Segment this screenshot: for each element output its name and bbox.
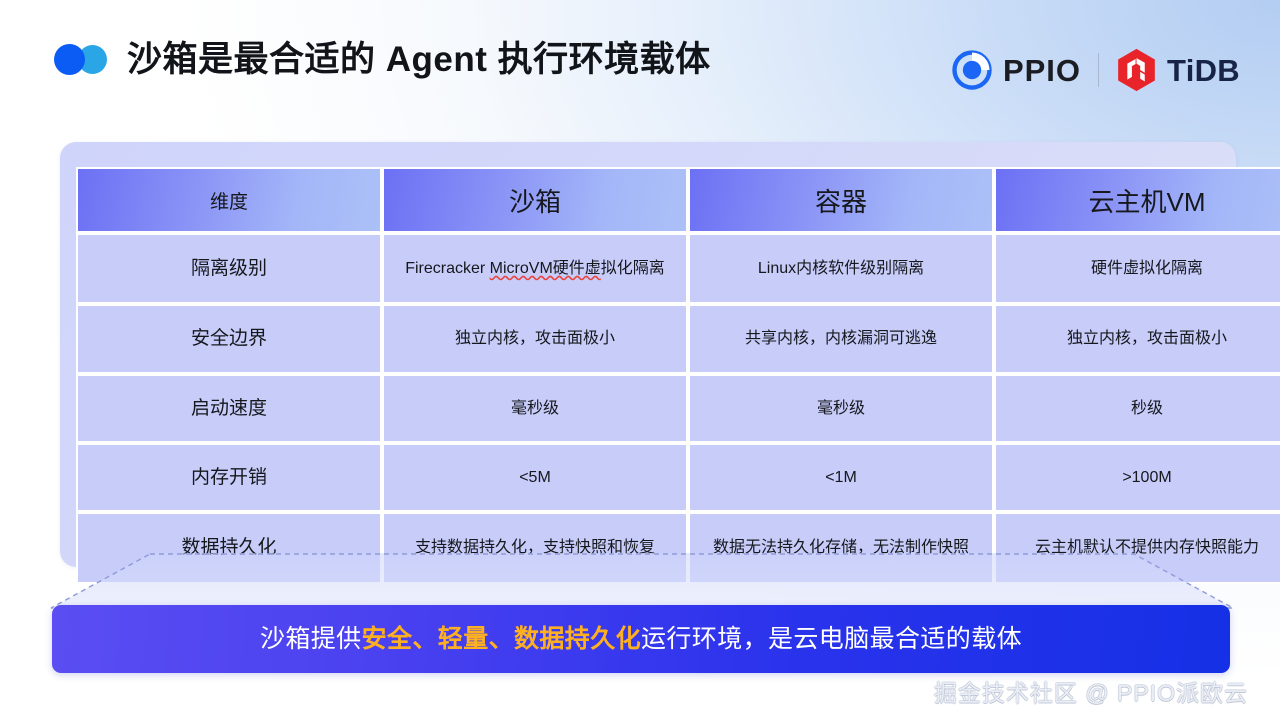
slide-canvas: 沙箱是最合适的 Agent 执行环境载体 PPIO — [0, 0, 1280, 722]
column-header-container: 容器 — [688, 167, 994, 233]
table-row: 隔离级别 Firecracker MicroVM硬件虚拟化隔离 Linux内核软… — [76, 233, 1280, 304]
two-circles-icon — [54, 44, 107, 75]
page-title: 沙箱是最合适的 Agent 执行环境载体 — [127, 42, 711, 77]
column-header-dimension: 维度 — [76, 167, 382, 233]
column-header-sandbox: 沙箱 — [382, 167, 688, 233]
cell-sandbox: Firecracker MicroVM硬件虚拟化隔离 — [382, 233, 688, 304]
table-header-row: 维度 沙箱 容器 云主机VM — [76, 167, 1280, 233]
tidb-logo-icon — [1116, 48, 1157, 92]
cell-sandbox: <5M — [382, 443, 688, 512]
cell-vm: 秒级 — [994, 374, 1280, 443]
cell-vm: 独立内核，攻击面极小 — [994, 304, 1280, 374]
title-group: 沙箱是最合适的 Agent 执行环境载体 — [54, 42, 711, 77]
cell-text-misspelled: MicroVM硬件虚 — [490, 260, 601, 277]
summary-banner-text: 沙箱提供安全、轻量、数据持久化运行环境，是云电脑最合适的载体 — [260, 627, 1022, 652]
brand-logos: PPIO TiDB — [951, 46, 1240, 94]
cell-dimension: 启动速度 — [76, 374, 382, 443]
cell-sandbox: 独立内核，攻击面极小 — [382, 304, 688, 374]
cell-text-prefix: Firecracker — [405, 260, 489, 277]
cell-vm: 硬件虚拟化隔离 — [994, 233, 1280, 304]
banner-prefix: 沙箱提供 — [260, 625, 362, 653]
banner-suffix: 运行环境，是云电脑最合适的载体 — [641, 625, 1022, 653]
comparison-table: 维度 沙箱 容器 云主机VM 隔离级别 Firecracker MicroVM硬… — [76, 167, 1280, 584]
ppio-wordmark: PPIO — [1003, 55, 1081, 86]
banner-highlight: 安全、轻量、数据持久化 — [362, 625, 641, 653]
comparison-panel: 维度 沙箱 容器 云主机VM 隔离级别 Firecracker MicroVM硬… — [60, 142, 1236, 567]
cell-text-suffix: 拟化隔离 — [601, 260, 665, 277]
funnel-connector — [50, 553, 1234, 609]
brand-tidb: TiDB — [1116, 48, 1240, 92]
cell-dimension: 隔离级别 — [76, 233, 382, 304]
column-header-vm: 云主机VM — [994, 167, 1280, 233]
cell-container: Linux内核软件级别隔离 — [688, 233, 994, 304]
cell-dimension: 安全边界 — [76, 304, 382, 374]
slide-header: 沙箱是最合适的 Agent 执行环境载体 PPIO — [0, 0, 1280, 125]
table-row: 启动速度 毫秒级 毫秒级 秒级 — [76, 374, 1280, 443]
ppio-logo-icon — [951, 49, 993, 91]
cell-container: <1M — [688, 443, 994, 512]
cell-container: 共享内核，内核漏洞可逃逸 — [688, 304, 994, 374]
brand-divider — [1098, 53, 1099, 87]
brand-ppio: PPIO — [951, 49, 1081, 91]
cell-container: 毫秒级 — [688, 374, 994, 443]
table-row: 内存开销 <5M <1M >100M — [76, 443, 1280, 512]
summary-banner: 沙箱提供安全、轻量、数据持久化运行环境，是云电脑最合适的载体 — [52, 605, 1230, 673]
tidb-wordmark: TiDB — [1167, 55, 1240, 86]
watermark: 掘金技术社区 @ PPIO派欧云 — [934, 674, 1248, 708]
table-row: 安全边界 独立内核，攻击面极小 共享内核，内核漏洞可逃逸 独立内核，攻击面极小 — [76, 304, 1280, 374]
cell-vm: >100M — [994, 443, 1280, 512]
cell-dimension: 内存开销 — [76, 443, 382, 512]
cell-sandbox: 毫秒级 — [382, 374, 688, 443]
